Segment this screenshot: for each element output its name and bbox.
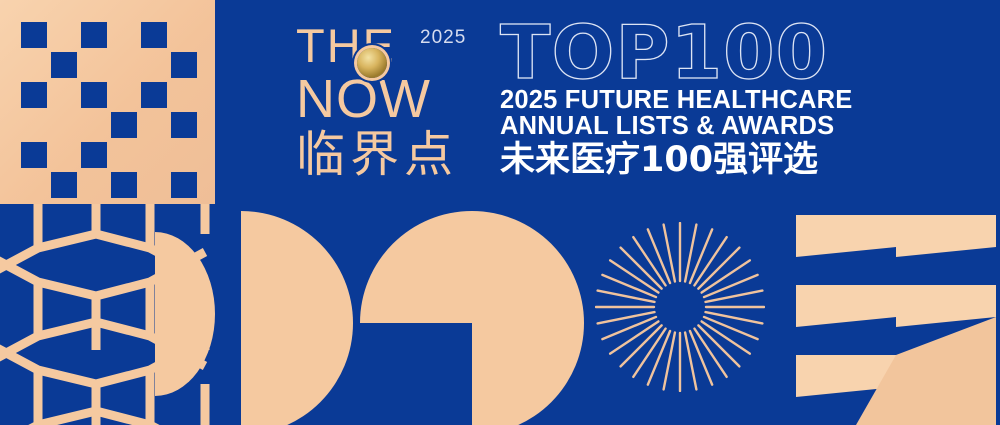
checker-cell	[81, 82, 107, 108]
logo-chinese-text: 临界点	[296, 130, 458, 179]
starburst-ray	[698, 248, 739, 289]
starburst-ray	[621, 325, 662, 366]
checker-cell	[21, 22, 47, 48]
checker-cell	[171, 172, 197, 198]
checker-cell	[141, 22, 167, 48]
checker-cell	[171, 52, 197, 78]
checker-cell	[141, 82, 167, 108]
subtitle-line-1: 2025 FUTURE HEALTHCARE	[500, 88, 845, 113]
the-now-logo: THE 2025 NOW 临界点	[296, 22, 486, 187]
checker-cell	[21, 142, 47, 168]
half-circle-large	[241, 211, 353, 425]
circle-with-square-notch	[360, 211, 584, 425]
starburst-ray	[698, 325, 739, 366]
checker-cell	[21, 82, 47, 108]
diagonal-stripes-pattern	[790, 205, 1000, 425]
logo-now-text: NOW	[296, 72, 431, 126]
subtitle-chinese: 未来医疗100强评选	[500, 141, 845, 179]
page-title: TOP100	[500, 18, 845, 88]
headline-block: TOP100 2025 FUTURE HEALTHCARE ANNUAL LIS…	[500, 18, 845, 179]
logo-year-text: 2025	[420, 28, 466, 47]
checker-cell	[171, 112, 197, 138]
notch-cutout	[360, 323, 472, 425]
checker-cell	[111, 112, 137, 138]
checker-cell	[51, 52, 77, 78]
subtitle-line-2: ANNUAL LISTS & AWARDS	[500, 114, 845, 139]
checkerboard-pattern	[0, 0, 215, 204]
starburst-ray	[621, 248, 662, 289]
checker-cell	[81, 142, 107, 168]
awards-banner: THE 2025 NOW 临界点 TOP100 2025 FUTURE HEAL…	[0, 0, 1000, 425]
starburst-rays	[595, 222, 765, 392]
checker-cell	[51, 172, 77, 198]
checker-cell	[81, 22, 107, 48]
checker-cell	[111, 172, 137, 198]
gold-sphere-icon	[357, 48, 387, 78]
